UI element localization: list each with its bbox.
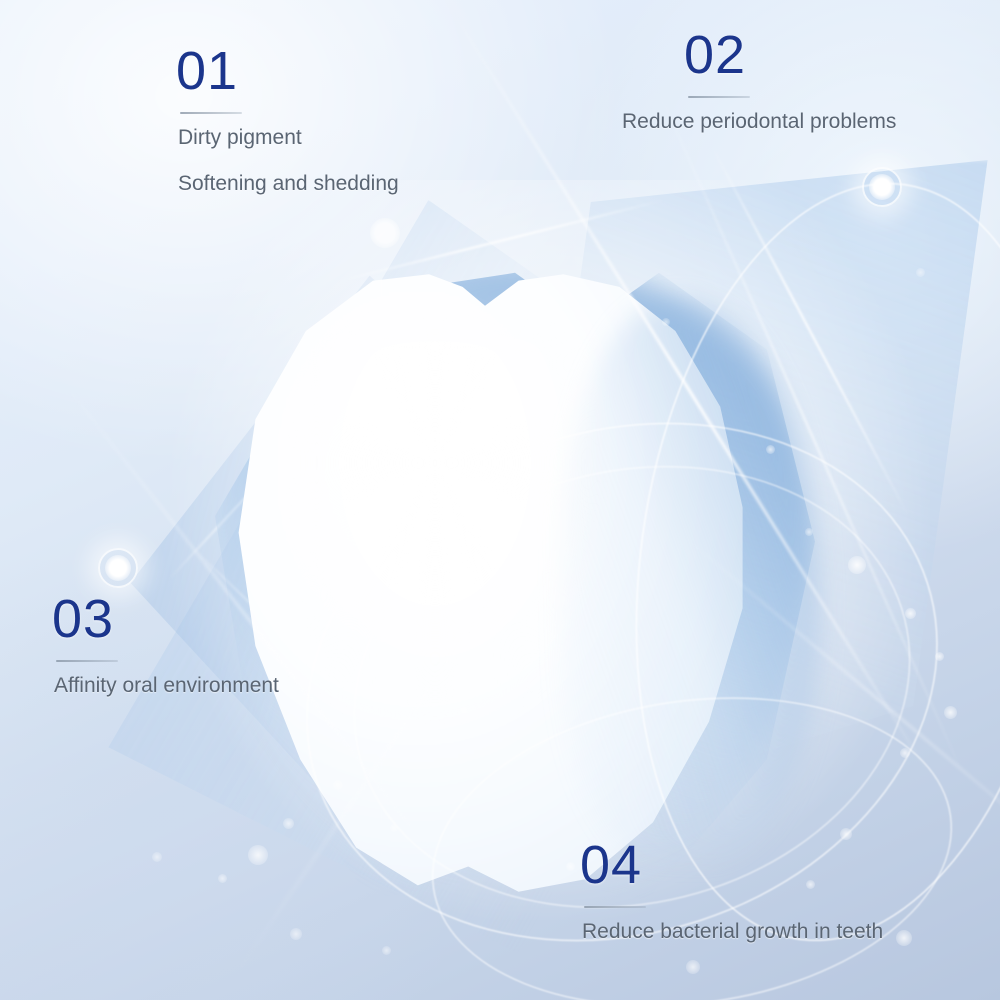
bokeh-particle — [218, 874, 227, 883]
bokeh-particle — [662, 318, 670, 326]
tooth-highlight — [300, 330, 600, 710]
feature-number: 03 — [52, 592, 279, 646]
feature-divider — [180, 112, 242, 114]
tooth-icon — [205, 268, 765, 898]
bokeh-particle — [686, 960, 700, 974]
feature-block-03: 03 Affinity oral environment — [52, 592, 279, 700]
feature-poster: 01 Dirty pigment Softening and shedding … — [0, 0, 1000, 1000]
feature-block-01: 01 Dirty pigment Softening and shedding — [176, 44, 399, 199]
feature-label: Affinity oral environment — [54, 672, 279, 700]
shield-facet-right — [380, 160, 1000, 860]
bokeh-particle — [566, 862, 575, 871]
feature-number: 04 — [580, 838, 883, 892]
shield-edge-upper-left — [167, 361, 373, 582]
bokeh-particle — [460, 706, 468, 714]
bokeh-particle — [905, 608, 916, 619]
bokeh-particle — [896, 930, 912, 946]
glow-node-core — [105, 555, 131, 581]
glow-node-core — [370, 218, 400, 248]
glow-node-icon-top-right — [862, 167, 902, 207]
bokeh-particle — [248, 845, 268, 865]
feature-divider — [584, 906, 646, 908]
feature-number: 01 — [176, 44, 399, 98]
feature-block-04: 04 Reduce bacterial growth in teeth — [580, 838, 883, 946]
orbit-ring-lower — [411, 665, 972, 1000]
glow-node-halo — [862, 167, 902, 207]
bokeh-particle — [290, 928, 302, 940]
bokeh-particle — [333, 780, 343, 790]
shield-edge-top — [335, 199, 665, 283]
feature-label: Reduce bacterial growth in teeth — [582, 918, 883, 946]
bokeh-particle — [382, 946, 391, 955]
feature-subtext: Softening and shedding — [178, 170, 399, 198]
bokeh-particle — [916, 268, 925, 277]
feature-divider — [688, 96, 750, 98]
glow-node-icon-top-left — [366, 214, 404, 252]
shield-edge-right — [711, 145, 910, 517]
feature-divider — [56, 660, 118, 662]
light-streak-bottom-right — [680, 533, 1000, 869]
tooth-shadow — [215, 260, 815, 900]
feature-block-02: 02 Reduce periodontal problems — [620, 28, 896, 136]
bokeh-particle — [766, 445, 775, 454]
bokeh-particle — [390, 824, 398, 832]
feature-number: 02 — [684, 28, 896, 82]
light-streak-right — [655, 83, 966, 778]
bokeh-particle — [944, 706, 957, 719]
tooth-rim-shadow — [560, 300, 820, 860]
shield-facet-inner — [120, 250, 640, 890]
bokeh-particle — [152, 852, 162, 862]
bokeh-particle — [900, 748, 910, 758]
feature-label: Reduce periodontal problems — [622, 108, 896, 136]
glow-node-core — [869, 174, 895, 200]
glow-node-icon-left — [98, 548, 138, 588]
bokeh-particle — [935, 652, 944, 661]
bokeh-particle — [283, 818, 294, 829]
feature-label: Dirty pigment — [178, 124, 399, 152]
bokeh-particle — [805, 528, 813, 536]
glow-node-halo — [98, 548, 138, 588]
background-wash-center — [170, 180, 930, 920]
bokeh-particle — [848, 556, 866, 574]
